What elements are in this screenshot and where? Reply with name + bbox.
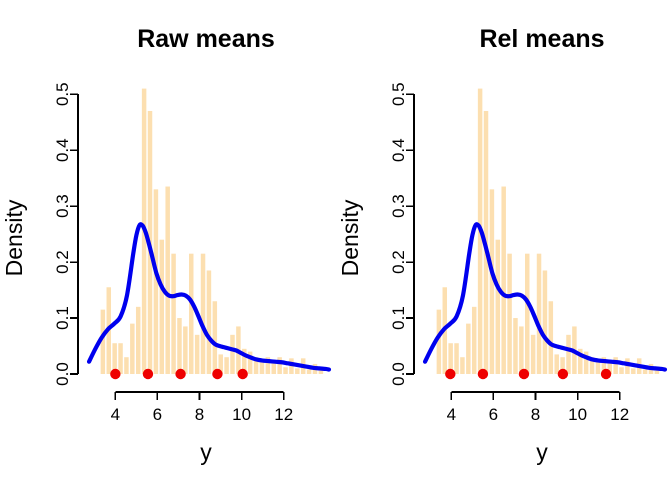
y-axis-tick-label: 0.4 xyxy=(53,138,72,162)
histogram-bar xyxy=(460,357,464,374)
histogram-bar xyxy=(613,357,617,374)
histogram-bar xyxy=(643,370,647,374)
y-axis-tick-label: 0.3 xyxy=(53,194,72,218)
histogram-bar xyxy=(549,301,553,374)
histogram-bar xyxy=(177,318,181,374)
x-axis-tick-label: 10 xyxy=(232,405,251,424)
histogram-bar xyxy=(118,343,122,374)
histogram-bar xyxy=(230,335,234,374)
mean-dot xyxy=(212,369,222,379)
x-axis-tick-label: 8 xyxy=(195,405,204,424)
histogram-bar xyxy=(136,307,140,374)
x-axis-title-raw: y xyxy=(200,439,212,465)
histogram-bar xyxy=(619,367,623,374)
x-axis-tick-label: 8 xyxy=(531,405,540,424)
histogram-bar xyxy=(195,335,199,374)
figure-canvas: Raw means Density y 0.00.10.20.30.40.546… xyxy=(0,0,672,480)
histogram-bar xyxy=(165,187,169,374)
histogram-bar xyxy=(525,254,529,374)
histogram-bar xyxy=(260,362,264,374)
histogram-bar xyxy=(295,368,299,374)
x-axis-title-rel: y xyxy=(536,439,548,465)
histogram-bar xyxy=(472,307,476,374)
histogram-bar xyxy=(507,254,511,374)
histogram-bar xyxy=(496,240,500,374)
mean-dot xyxy=(237,369,247,379)
mean-dot xyxy=(601,369,611,379)
panel-rel-means: Rel means Density y 0.00.10.20.30.40.546… xyxy=(336,0,672,480)
y-axis-tick-label: 0.2 xyxy=(389,250,408,274)
histogram-bar xyxy=(189,254,193,374)
histogram-bar xyxy=(213,301,217,374)
histogram-bar xyxy=(272,363,276,374)
mean-dot xyxy=(478,369,488,379)
x-axis-tick-label: 12 xyxy=(610,405,629,424)
histogram-bar xyxy=(566,335,570,374)
x-axis-tick-label: 4 xyxy=(447,405,456,424)
histogram-bar xyxy=(543,270,547,374)
histogram-bar xyxy=(283,367,287,374)
histogram-bar xyxy=(207,270,211,374)
mean-dot xyxy=(143,369,153,379)
y-axis-tick-label: 0.4 xyxy=(389,138,408,162)
panel-title-rel: Rel means xyxy=(479,25,604,53)
histogram-bar xyxy=(124,357,128,374)
x-axis-tick-label: 6 xyxy=(489,405,498,424)
histogram-bar xyxy=(171,254,175,374)
histogram-bar xyxy=(277,357,281,374)
x-axis-tick-label: 4 xyxy=(111,405,120,424)
x-axis-tick-label: 12 xyxy=(274,405,293,424)
histogram-bar xyxy=(160,240,164,374)
y-axis-tick-label: 0.5 xyxy=(389,82,408,106)
y-axis-tick-label: 0.3 xyxy=(389,194,408,218)
y-axis-tick-label: 0.1 xyxy=(389,306,408,330)
mean-dot xyxy=(558,369,568,379)
panel-title-raw: Raw means xyxy=(137,25,275,53)
histogram-bar xyxy=(554,354,558,374)
y-axis-tick-label: 0.1 xyxy=(53,306,72,330)
histogram-bar xyxy=(307,370,311,374)
mean-dot xyxy=(445,369,455,379)
y-axis-tick-label: 0.2 xyxy=(53,250,72,274)
y-axis-tick-label: 0.0 xyxy=(53,362,72,386)
histogram-bar xyxy=(531,335,535,374)
y-axis-title-rel: Density xyxy=(337,199,363,276)
plot-area-raw: 0.00.10.20.30.40.54681012 xyxy=(53,82,329,424)
panel-raw-means: Raw means Density y 0.00.10.20.30.40.546… xyxy=(0,0,336,480)
y-axis-tick-label: 0.0 xyxy=(389,362,408,386)
histogram-bar xyxy=(519,326,523,374)
histogram-bar xyxy=(454,343,458,374)
histogram-bar xyxy=(631,368,635,374)
histogram-bar xyxy=(501,187,505,374)
histogram-bar xyxy=(537,254,541,374)
mean-dot xyxy=(175,369,185,379)
histogram-bar xyxy=(224,357,228,374)
histogram-bar xyxy=(466,324,470,374)
plot-area-rel: 0.00.10.20.30.40.54681012 xyxy=(389,82,665,424)
histogram-bar xyxy=(513,318,517,374)
x-axis-tick-label: 10 xyxy=(568,405,587,424)
histogram-bars xyxy=(437,89,660,374)
plot-svg-rel: Rel means Density y 0.00.10.20.30.40.546… xyxy=(336,0,672,480)
histogram-bar xyxy=(596,362,600,374)
histogram-bar xyxy=(201,254,205,374)
mean-dot xyxy=(110,369,120,379)
plot-svg-raw: Raw means Density y 0.00.10.20.30.40.546… xyxy=(0,0,336,480)
y-axis-title-raw: Density xyxy=(1,199,27,276)
y-axis-tick-label: 0.5 xyxy=(53,82,72,106)
x-axis-tick-label: 6 xyxy=(153,405,162,424)
mean-dot xyxy=(519,369,529,379)
histogram-bars xyxy=(101,89,324,374)
histogram-bar xyxy=(183,326,187,374)
histogram-bar xyxy=(130,324,134,374)
